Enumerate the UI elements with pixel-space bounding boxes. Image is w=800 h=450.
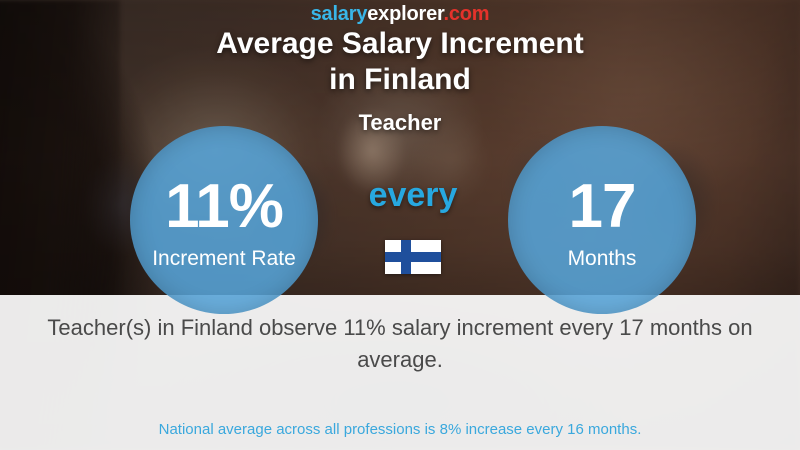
finland-flag-icon: [385, 240, 441, 274]
footnote-text: National average across all professions …: [24, 420, 776, 440]
page-subtitle: Teacher: [0, 110, 800, 136]
increment-rate-value: 11%: [165, 175, 283, 239]
connector-text: every: [318, 176, 508, 214]
site-logo[interactable]: salaryexplorer.com: [0, 3, 800, 25]
logo-part-domain: .com: [443, 3, 489, 25]
page-title-line-1: Average Salary Increment: [0, 26, 800, 62]
summary-text: Teacher(s) in Finland observe 11% salary…: [24, 312, 776, 376]
page-title-line-2: in Finland: [0, 62, 800, 98]
page-title: Average Salary Increment in Finland: [0, 26, 800, 98]
increment-rate-bubble: 11% Increment Rate: [130, 126, 318, 314]
logo-part-salary: salary: [311, 3, 368, 25]
increment-period-value: 17: [569, 175, 636, 239]
logo-part-explorer: explorer: [367, 3, 443, 25]
flag-cross-horizontal: [385, 252, 441, 262]
increment-period-label: Months: [568, 247, 637, 271]
increment-rate-label: Increment Rate: [152, 247, 296, 271]
increment-period-bubble: 17 Months: [508, 126, 696, 314]
infographic-card: salaryexplorer.com Average Salary Increm…: [0, 0, 800, 450]
flag-cross-vertical: [401, 240, 411, 274]
